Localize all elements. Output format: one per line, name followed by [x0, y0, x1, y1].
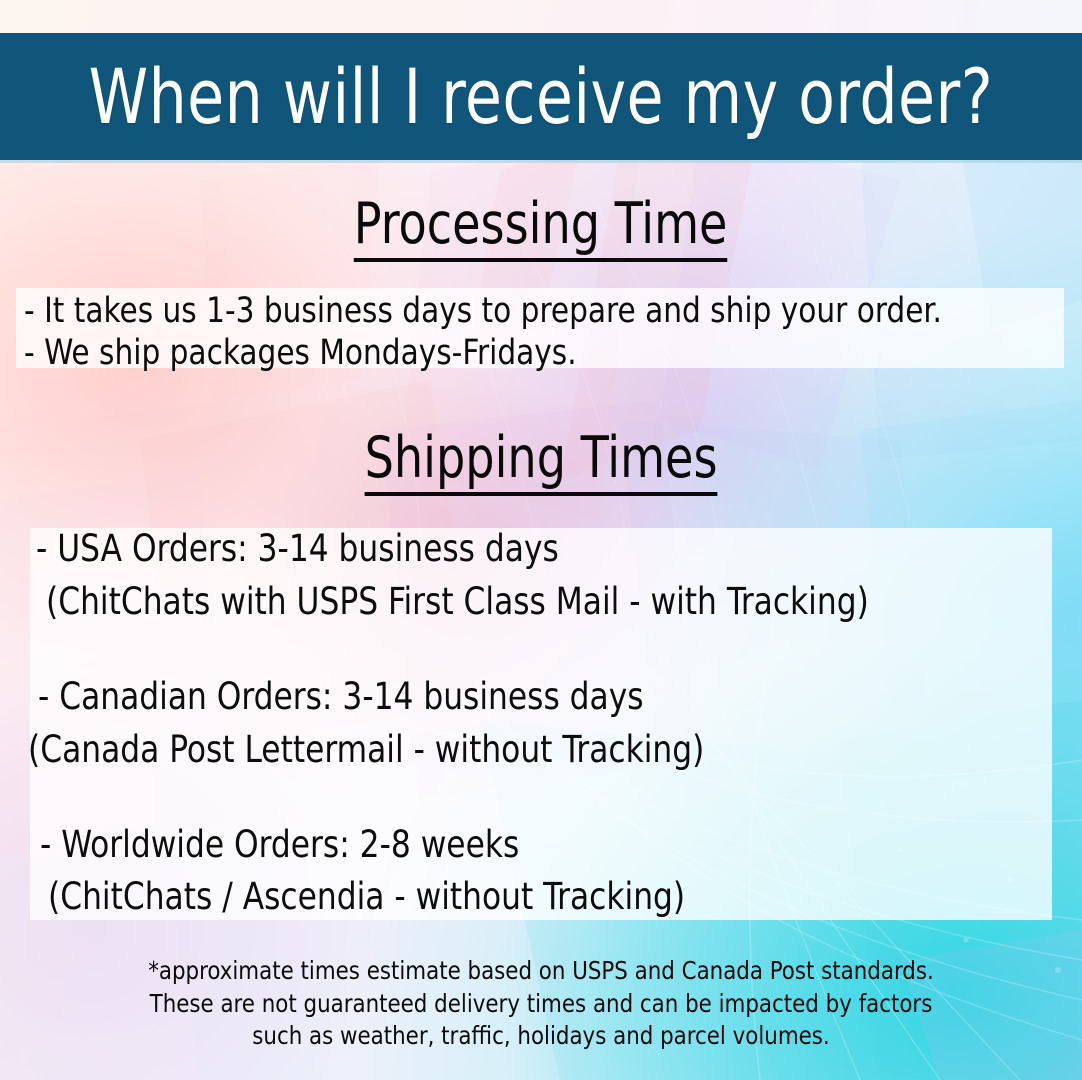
processing-time-line-1: - It takes us 1-3 business days to prepa…: [24, 294, 942, 329]
footnote-disclaimer: *approximate times estimate based on USP…: [0, 955, 1082, 1053]
top-edge-strip: [0, 0, 1082, 33]
section-heading-shipping-times: Shipping Times: [0, 430, 1082, 496]
shipping-entry-canada-line-1: - Canadian Orders: 3-14 business days: [38, 678, 644, 715]
footnote-line-1: *approximate times estimate based on USP…: [27, 955, 1055, 988]
shipping-entry-canada-line-2: (Canada Post Lettermail - without Tracki…: [28, 731, 704, 768]
shipping-entry-worldwide-line-1: - Worldwide Orders: 2-8 weeks: [40, 826, 519, 863]
header-banner: When will I receive my order?: [0, 33, 1082, 160]
section-heading-processing-time-text: Processing Time: [354, 196, 728, 262]
section-heading-shipping-times-text: Shipping Times: [365, 430, 718, 496]
section-heading-processing-time: Processing Time: [0, 196, 1082, 262]
footnote-line-2: These are not guaranteed delivery times …: [27, 988, 1055, 1021]
shipping-info-poster: When will I receive my order? Processing…: [0, 0, 1082, 1080]
shipping-entry-worldwide-line-2: (ChitChats / Ascendia - without Tracking…: [48, 878, 685, 915]
shipping-entry-usa-line-2: (ChitChats with USPS First Class Mail - …: [46, 583, 869, 620]
processing-time-line-2: - We ship packages Mondays-Fridays.: [24, 336, 577, 371]
footnote-line-3: such as weather, traffic, holidays and p…: [27, 1020, 1055, 1053]
shipping-entry-usa-line-1: - USA Orders: 3-14 business days: [36, 530, 559, 567]
page-title: When will I receive my order?: [89, 59, 993, 135]
